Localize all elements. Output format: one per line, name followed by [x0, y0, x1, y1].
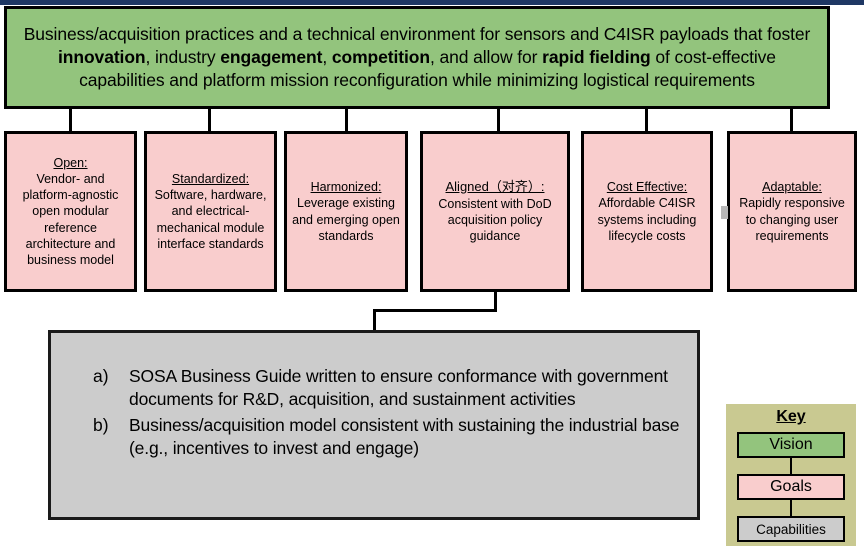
connector-vision-to-goal-5 [645, 109, 648, 131]
key-legend-capabilities-swatch: Capabilities [737, 516, 845, 542]
capabilities-list-item: b) Business/acquisition model consistent… [93, 414, 693, 461]
connector-vision-to-goal-6 [790, 109, 793, 131]
key-legend-vision-swatch: Vision [737, 432, 845, 458]
goal-box-harmonized: Harmonized: Leverage existing and emergi… [284, 131, 408, 292]
goal-heading-harmonized: Harmonized: [311, 180, 382, 194]
goal-body-harmonized: Leverage existing and emerging open stan… [292, 196, 400, 243]
goal-body-cost-effective: Affordable C4ISR systems including lifec… [598, 196, 697, 243]
goal-heading-adaptable: Adaptable: [762, 180, 822, 194]
capabilities-item-marker-a: a) [93, 365, 129, 412]
key-legend-connector-1 [790, 456, 792, 476]
top-rule-divider [0, 0, 864, 5]
key-legend-title: Key [726, 408, 856, 426]
vision-box: Business/acquisition practices and a tec… [4, 6, 830, 109]
capabilities-item-text-b: Business/acquisition model consistent wi… [129, 414, 693, 461]
vision-emphasis: engagement [220, 47, 322, 67]
key-legend-vision-label: Vision [769, 436, 812, 454]
goal-heading-open: Open: [53, 156, 87, 170]
capabilities-list-item: a) SOSA Business Guide written to ensure… [93, 365, 693, 412]
goal-text-standardized: Standardized: Software, hardware, and el… [152, 171, 269, 252]
resize-handle-artifact [721, 206, 728, 219]
goal-text-aligned: Aligned（对齐）: Consistent with DoD acquisi… [428, 179, 562, 245]
key-legend-panel: Key Vision Goals Capabilities [726, 404, 856, 546]
connector-vision-to-goal-1 [69, 109, 72, 131]
key-legend-goals-swatch: Goals [737, 474, 845, 500]
vision-emphasis: innovation [58, 47, 145, 67]
capabilities-item-text-a: SOSA Business Guide written to ensure co… [129, 365, 693, 412]
vision-run: , and allow for [430, 47, 542, 67]
goal-body-open: Vendor- and platform-agnostic open modul… [23, 172, 119, 267]
connector-elbow-horizontal [373, 309, 497, 312]
goal-heading-standardized: Standardized: [172, 172, 249, 186]
capabilities-item-marker-b: b) [93, 414, 129, 461]
goal-heading-cost-effective: Cost Effective: [607, 180, 687, 194]
capabilities-box: a) SOSA Business Guide written to ensure… [48, 330, 700, 520]
vision-run: , [322, 47, 332, 67]
goal-box-adaptable: Adaptable: Rapidly responsive to changin… [727, 131, 857, 292]
goal-box-aligned: Aligned（对齐）: Consistent with DoD acquisi… [420, 131, 570, 292]
connector-vision-to-goal-3 [345, 109, 348, 131]
vision-run: , industry [146, 47, 221, 67]
goal-body-aligned: Consistent with DoD acquisition policy g… [438, 197, 551, 244]
key-legend-capabilities-label: Capabilities [756, 522, 826, 537]
vision-statement-text: Business/acquisition practices and a tec… [17, 23, 817, 91]
goal-text-harmonized: Harmonized: Leverage existing and emergi… [292, 179, 400, 244]
goal-body-adaptable: Rapidly responsive to changing user requ… [739, 196, 845, 243]
goal-box-cost-effective: Cost Effective: Affordable C4ISR systems… [581, 131, 713, 292]
key-legend-connector-2 [790, 498, 792, 518]
goal-body-standardized: Software, hardware, and electrical-mecha… [155, 188, 267, 251]
diagram-canvas: Business/acquisition practices and a tec… [0, 0, 864, 546]
key-legend-goals-label: Goals [770, 478, 812, 496]
vision-emphasis: competition [332, 47, 430, 67]
vision-emphasis: rapid fielding [542, 47, 650, 67]
goal-text-open: Open: Vendor- and platform-agnostic open… [12, 155, 129, 269]
capabilities-list: a) SOSA Business Guide written to ensure… [93, 365, 693, 462]
goal-heading-aligned: Aligned（对齐）: [446, 179, 545, 194]
connector-vision-to-goal-4 [497, 109, 500, 131]
goal-box-open: Open: Vendor- and platform-agnostic open… [4, 131, 137, 292]
goal-text-cost-effective: Cost Effective: Affordable C4ISR systems… [589, 179, 705, 244]
goal-text-adaptable: Adaptable: Rapidly responsive to changin… [735, 179, 849, 244]
connector-vision-to-goal-2 [208, 109, 211, 131]
vision-run: Business/acquisition practices and a tec… [24, 24, 811, 44]
goal-box-standardized: Standardized: Software, hardware, and el… [144, 131, 277, 292]
